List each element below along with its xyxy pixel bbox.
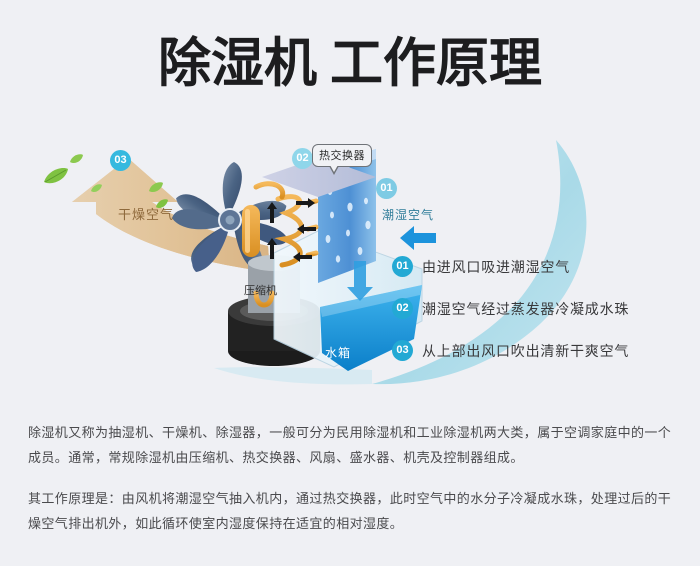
legend-text-01: 由进风口吸进潮湿空气 [422, 257, 570, 277]
page-title-part1: 除湿机 [158, 34, 317, 93]
leaf-icon [42, 166, 70, 186]
legend-badge-02: 02 [392, 298, 413, 319]
legend-item: 01 由进风口吸进潮湿空气 [392, 256, 692, 277]
page-root: 除湿机工作原理 [0, 0, 700, 566]
legend-text-02: 潮湿空气经过蒸发器冷凝成水珠 [422, 299, 629, 319]
diagram-badge-02: 02 [292, 148, 313, 169]
description-block: 除湿机又称为抽湿机、干燥机、除湿器，一般可分为民用除湿机和工业除湿机两大类，属于… [28, 420, 676, 536]
description-paragraph-1: 除湿机又称为抽湿机、干燥机、除湿器，一般可分为民用除湿机和工业除湿机两大类，属于… [28, 420, 676, 470]
legend-item: 03 从上部出风口吹出清新干爽空气 [392, 340, 692, 361]
page-title-part2: 工作原理 [330, 34, 542, 93]
legend-badge-01: 01 [392, 256, 413, 277]
legend-item: 02 潮湿空气经过蒸发器冷凝成水珠 [392, 298, 692, 319]
legend-list: 01 由进风口吸进潮湿空气 02 潮湿空气经过蒸发器冷凝成水珠 03 从上部出风… [392, 256, 692, 361]
legend-badge-03: 03 [392, 340, 413, 361]
legend-text-03: 从上部出风口吹出清新干爽空气 [422, 341, 629, 361]
heat-exchanger-callout: 热交换器 [312, 144, 372, 167]
description-paragraph-2: 其工作原理是：由风机将潮湿空气抽入机内，通过热交换器，此时空气中的水分子冷凝成水… [28, 486, 676, 536]
leaf-icon [148, 181, 164, 194]
label-dry-air: 干燥空气 [118, 204, 174, 223]
page-title: 除湿机工作原理 [0, 34, 700, 94]
diagram-badge-01: 01 [376, 178, 397, 199]
label-compressor: 压缩机 [244, 282, 277, 298]
leaf-icon [69, 153, 84, 165]
leaf-icon [90, 183, 103, 194]
label-humid-air: 潮湿空气 [382, 206, 434, 223]
diagram-badge-03: 03 [110, 150, 131, 171]
label-water-tank: 水箱 [325, 344, 351, 361]
